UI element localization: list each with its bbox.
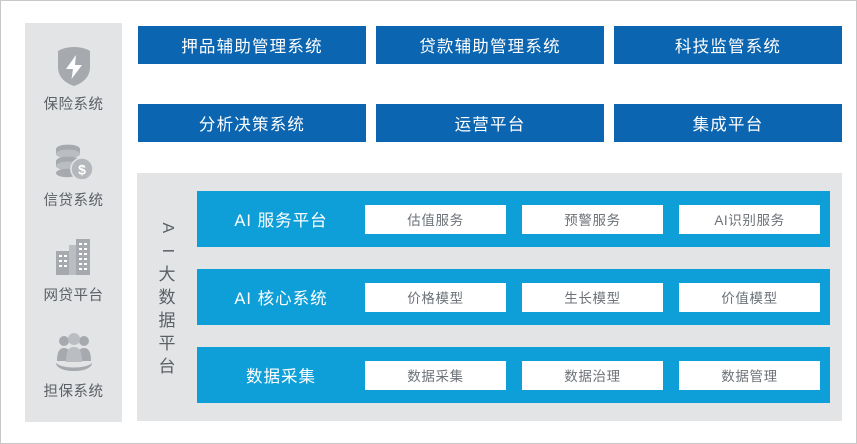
platform-title-char: 大 [159, 265, 176, 284]
platform-item-chip[interactable]: 价格模型 [365, 283, 506, 312]
svg-text:$: $ [78, 161, 86, 177]
platform-title-char: I [158, 249, 176, 253]
shield-bolt-icon [51, 44, 97, 88]
system-bar-label: 贷款辅助管理系统 [419, 33, 561, 57]
sidebar-item-online-loan[interactable]: 网贷平台 [25, 235, 122, 305]
people-group-icon [51, 331, 97, 375]
platform-title-char: 据 [159, 311, 176, 330]
platform-item-chip[interactable]: 数据采集 [365, 361, 506, 390]
platform-item-chip[interactable]: 数据治理 [522, 361, 663, 390]
platform-item-chip[interactable]: 数据管理 [679, 361, 820, 390]
buildings-icon [51, 235, 97, 279]
platform-layer-stack: AI 服务平台 估值服务 预警服务 AI识别服务 AI 核心系统 价格模型 生长… [197, 173, 842, 421]
platform-item-chip[interactable]: 估值服务 [365, 205, 506, 234]
ai-bigdata-platform-panel: A I 大 数 据 平 台 AI 服务平台 估值服务 预警服务 AI识别服务 A… [137, 173, 842, 421]
platform-vertical-title: A I 大 数 据 平 台 [137, 173, 197, 421]
sidebar-item-label: 担保系统 [44, 380, 104, 401]
platform-layer-items: 价格模型 生长模型 价值模型 [365, 283, 820, 312]
sidebar-item-label: 信贷系统 [44, 189, 104, 210]
platform-layer-ai-service[interactable]: AI 服务平台 估值服务 预警服务 AI识别服务 [197, 191, 830, 247]
sidebar-item-label: 保险系统 [44, 93, 104, 114]
platform-title-char: 平 [159, 334, 176, 353]
system-bar-integration-platform[interactable]: 集成平台 [614, 104, 842, 142]
platform-layer-data-collection[interactable]: 数据采集 数据采集 数据治理 数据管理 [197, 347, 830, 403]
platform-item-chip[interactable]: 生长模型 [522, 283, 663, 312]
system-bar-label: 科技监管系统 [675, 33, 781, 57]
platform-layer-label: AI 服务平台 [197, 207, 365, 231]
platform-item-chip[interactable]: AI识别服务 [679, 205, 820, 234]
platform-layer-label: AI 核心系统 [197, 285, 365, 309]
sidebar: 保险系统 $ 信贷系统 [25, 23, 122, 422]
platform-layer-items: 数据采集 数据治理 数据管理 [365, 361, 820, 390]
system-bar-collateral-management[interactable]: 押品辅助管理系统 [138, 26, 366, 64]
platform-title-char: 台 [159, 357, 176, 376]
platform-item-chip[interactable]: 价值模型 [679, 283, 820, 312]
system-bar-label: 押品辅助管理系统 [181, 33, 323, 57]
sidebar-item-guarantee[interactable]: 担保系统 [25, 331, 122, 401]
coins-dollar-icon: $ [51, 140, 97, 184]
platform-layer-items: 估值服务 预警服务 AI识别服务 [365, 205, 820, 234]
system-bar-tech-supervision[interactable]: 科技监管系统 [614, 26, 842, 64]
system-bar-loan-management[interactable]: 贷款辅助管理系统 [376, 26, 604, 64]
sidebar-item-credit[interactable]: $ 信贷系统 [25, 140, 122, 210]
platform-title-char: A [158, 222, 176, 233]
system-bar-label: 集成平台 [693, 111, 764, 135]
platform-layer-ai-core[interactable]: AI 核心系统 价格模型 生长模型 价值模型 [197, 269, 830, 325]
platform-title-char: 数 [159, 288, 176, 307]
system-bar-analysis-decision[interactable]: 分析决策系统 [138, 104, 366, 142]
system-bar-operation-platform[interactable]: 运营平台 [376, 104, 604, 142]
sidebar-item-insurance[interactable]: 保险系统 [25, 44, 122, 114]
platform-item-chip[interactable]: 预警服务 [522, 205, 663, 234]
architecture-diagram: 保险系统 $ 信贷系统 [0, 0, 857, 444]
system-bar-label: 运营平台 [455, 111, 526, 135]
system-bar-label: 分析决策系统 [199, 111, 305, 135]
sidebar-item-label: 网贷平台 [44, 284, 104, 305]
platform-layer-label: 数据采集 [197, 363, 365, 387]
